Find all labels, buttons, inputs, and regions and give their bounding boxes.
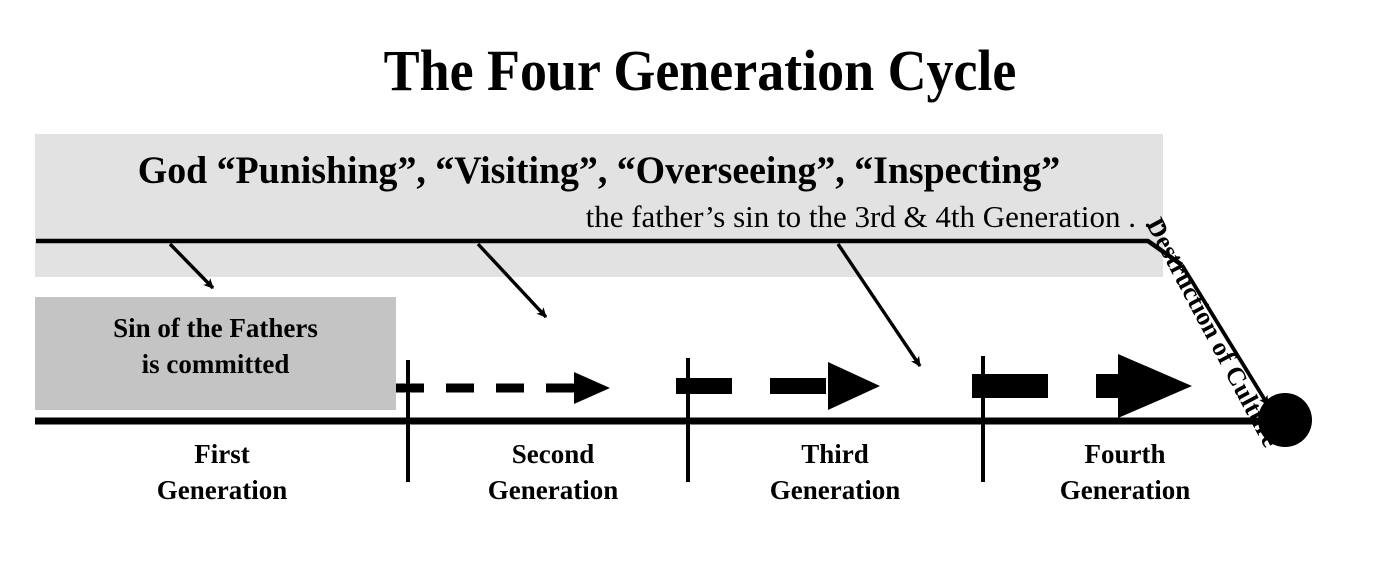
arrow-fourth-generation [972, 354, 1192, 418]
arrow-third-generation [676, 362, 880, 410]
four-generation-cycle-diagram: The Four Generation Cycle God “Punishing… [0, 0, 1400, 571]
generation-label-first: First Generation [82, 437, 362, 508]
generation-label-fourth: Fourth Generation [985, 437, 1265, 508]
generation-label-second: Second Generation [413, 437, 693, 508]
banner-subline: the father’s sin to the 3rd & 4th Genera… [35, 200, 1175, 234]
destruction-of-culture-label: Destruction of Culture [1140, 213, 1286, 452]
page-title: The Four Generation Cycle [49, 42, 1351, 100]
banner-headline: God “Punishing”, “Visiting”, “Overseeing… [52, 150, 1146, 193]
sin-of-the-fathers-label: Sin of the Fathers is committed [35, 311, 396, 383]
generation-label-third: Third Generation [695, 437, 975, 508]
arrow-second-generation [396, 372, 610, 404]
